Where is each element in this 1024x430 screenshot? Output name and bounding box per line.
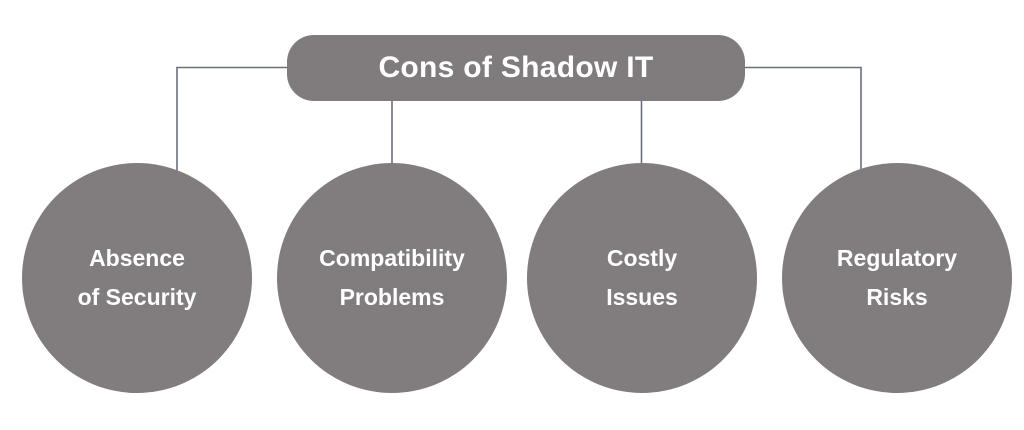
leaf-node-label-line1: Absence: [89, 247, 185, 270]
root-node-label: Cons of Shadow IT: [378, 53, 653, 83]
leaf-node-label-line2: of Security: [78, 286, 197, 309]
leaf-node-costly-issues[interactable]: Costly Issues: [527, 163, 757, 393]
leaf-node-compatibility-problems[interactable]: Compatibility Problems: [277, 163, 507, 393]
connector-line-absence-of-security: [177, 68, 287, 173]
leaf-node-absence-of-security[interactable]: Absence of Security: [22, 163, 252, 393]
leaf-node-label-line1: Regulatory: [837, 247, 957, 270]
leaf-node-label-line2: Risks: [866, 286, 927, 309]
leaf-node-label-line1: Compatibility: [319, 247, 465, 270]
leaf-node-regulatory-risks[interactable]: Regulatory Risks: [782, 163, 1012, 393]
leaf-node-label-line1: Costly: [607, 247, 677, 270]
leaf-node-label-line2: Problems: [340, 286, 445, 309]
leaf-node-label-line2: Issues: [606, 286, 678, 309]
diagram-canvas: Cons of Shadow IT Absence of Security Co…: [0, 0, 1024, 430]
root-node-cons-of-shadow-it[interactable]: Cons of Shadow IT: [287, 35, 745, 101]
connector-line-regulatory-risks: [745, 68, 861, 173]
